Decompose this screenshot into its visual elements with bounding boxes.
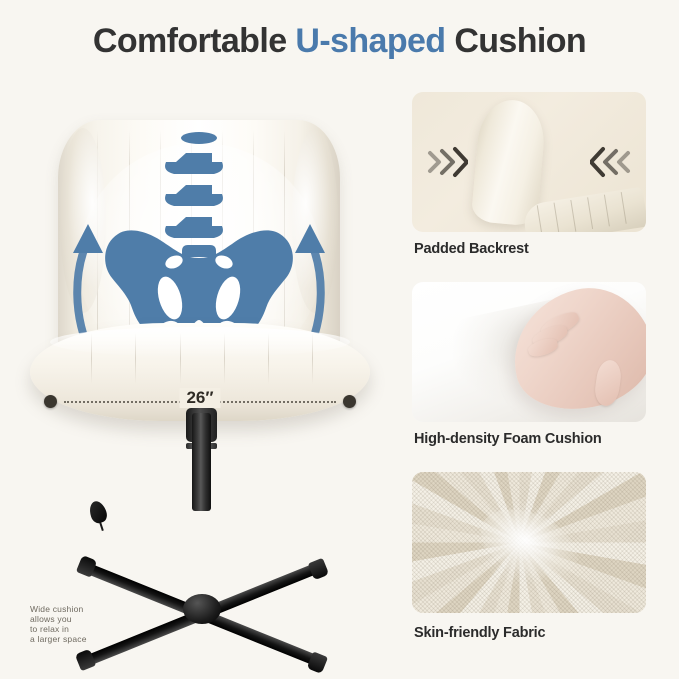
chair-hero-image: 26″	[0, 95, 400, 655]
page-title: Comfortable U-shaped Cushion	[0, 22, 679, 61]
chair-base-4-star	[72, 563, 332, 655]
base-leg-front-right	[200, 609, 323, 667]
measure-endpoint-right	[343, 395, 356, 408]
panel-foam-cushion	[412, 282, 646, 422]
vertebra-2	[165, 153, 223, 174]
caption-foam-cushion: High-density Foam Cushion	[414, 431, 602, 447]
title-suffix: Cushion	[445, 22, 586, 60]
title-prefix: Comfortable	[93, 22, 295, 60]
seat-width-label: 26″	[179, 388, 220, 408]
note-line-4: a larger space	[30, 634, 87, 644]
note-line-1: Wide cushion	[30, 604, 87, 614]
note-line-2: allows you	[30, 614, 87, 624]
pillow-seat-edge	[522, 187, 646, 232]
caption-skin-friendly-fabric: Skin-friendly Fabric	[414, 625, 545, 641]
measure-endpoint-left	[44, 395, 57, 408]
wide-cushion-note: Wide cushion allows you to relax in a la…	[30, 604, 87, 644]
chevron-left-triple-icon	[590, 145, 632, 179]
vertebra-3	[165, 185, 223, 206]
sacrum-top	[182, 245, 216, 257]
height-adjustment-lever[interactable]	[88, 501, 108, 531]
panel-padded-backrest	[412, 92, 646, 232]
note-line-3: to relax in	[30, 624, 87, 634]
panel-skin-friendly-fabric	[412, 472, 646, 613]
vertebra-1	[181, 132, 217, 144]
caption-padded-backrest: Padded Backrest	[414, 241, 529, 257]
title-highlight: U-shaped	[295, 22, 445, 60]
base-hub	[183, 594, 221, 624]
gas-cylinder	[192, 413, 211, 511]
vertebra-4	[165, 217, 223, 238]
seat-highlight	[50, 327, 349, 357]
chevron-right-triple-icon	[426, 145, 468, 179]
infographic-canvas: Comfortable U-shaped Cushion	[0, 0, 679, 679]
base-leg-front-left	[81, 609, 204, 667]
